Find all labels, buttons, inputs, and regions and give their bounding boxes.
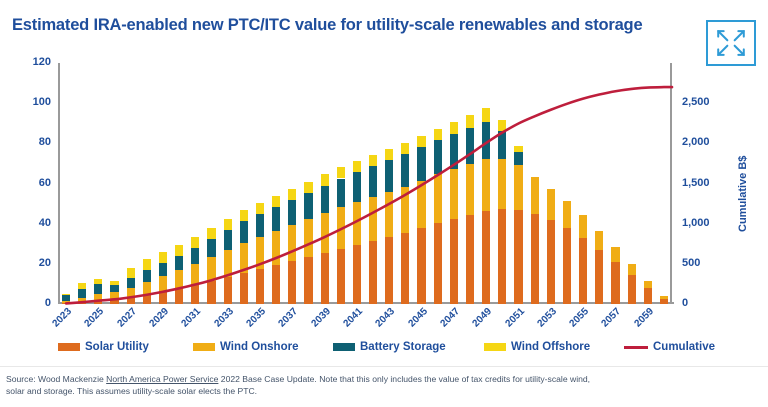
footnote-part1: Source: Wood Mackenzie: [6, 374, 106, 384]
legend-swatch-icon: [58, 343, 80, 351]
y-tick-left-20: 20: [11, 257, 51, 269]
legend-swatch-icon: [193, 343, 215, 351]
cumulative-line-series: [58, 63, 672, 304]
footnote-source-link[interactable]: North America Power Service: [106, 374, 218, 384]
x-tick-2053: 2053: [535, 306, 559, 330]
x-tick-2047: 2047: [438, 306, 462, 330]
y-tick-left-40: 40: [11, 217, 51, 229]
x-axis-ticks: 2023202520272029203120332035203720392041…: [58, 306, 672, 340]
source-footnote: Source: Wood Mackenzie North America Pow…: [6, 373, 606, 398]
x-tick-2023: 2023: [51, 306, 75, 330]
plot-area: [58, 63, 672, 304]
x-tick-2035: 2035: [244, 306, 268, 330]
expand-chart-button[interactable]: [706, 20, 756, 66]
x-tick-2039: 2039: [309, 306, 333, 330]
legend-swatch-icon: [484, 343, 506, 351]
chart-card: Estimated IRA-enabled new PTC/ITC value …: [0, 0, 768, 407]
x-tick-2041: 2041: [341, 306, 365, 330]
x-tick-2029: 2029: [148, 306, 172, 330]
legend-item-battery-storage[interactable]: Battery Storage: [333, 341, 446, 353]
legend-item-wind-onshore[interactable]: Wind Onshore: [193, 341, 298, 353]
y-tick-left-60: 60: [11, 177, 51, 189]
legend-label: Wind Offshore: [511, 341, 590, 353]
x-tick-2055: 2055: [568, 306, 592, 330]
x-tick-2045: 2045: [406, 306, 430, 330]
x-tick-2059: 2059: [632, 306, 656, 330]
y-tick-right-2000: 2,000: [682, 136, 728, 148]
expand-arrows-icon: [708, 22, 754, 64]
y-axis-right-title: Cumulative B$: [737, 156, 749, 232]
y-tick-left-80: 80: [11, 136, 51, 148]
x-tick-2031: 2031: [180, 306, 204, 330]
y-tick-left-100: 100: [11, 96, 51, 108]
y-tick-left-0: 0: [11, 297, 51, 309]
x-tick-2051: 2051: [503, 306, 527, 330]
x-tick-2037: 2037: [277, 306, 301, 330]
y-tick-right-1000: 1,000: [682, 217, 728, 229]
y-tick-right-1500: 1,500: [682, 177, 728, 189]
legend-label: Wind Onshore: [220, 341, 298, 353]
page-title: Estimated IRA-enabled new PTC/ITC value …: [12, 16, 642, 35]
x-tick-2049: 2049: [471, 306, 495, 330]
chart-legend: Solar UtilityWind OnshoreBattery Storage…: [0, 341, 768, 363]
legend-swatch-icon: [333, 343, 355, 351]
legend-item-cumulative[interactable]: Cumulative: [624, 341, 715, 353]
legend-label: Solar Utility: [85, 341, 149, 353]
legend-label: Battery Storage: [360, 341, 446, 353]
x-tick-2027: 2027: [115, 306, 139, 330]
legend-label: Cumulative: [653, 341, 715, 353]
legend-item-solar-utility[interactable]: Solar Utility: [58, 341, 149, 353]
legend-swatch-icon: [624, 346, 648, 349]
footnote-divider: [0, 366, 768, 367]
x-tick-2025: 2025: [83, 306, 107, 330]
x-tick-2033: 2033: [212, 306, 236, 330]
x-tick-2057: 2057: [600, 306, 624, 330]
y-tick-right-500: 500: [682, 257, 728, 269]
y-tick-right-2500: 2,500: [682, 96, 728, 108]
y-tick-left-120: 120: [11, 56, 51, 68]
x-tick-2043: 2043: [374, 306, 398, 330]
legend-item-wind-offshore[interactable]: Wind Offshore: [484, 341, 590, 353]
y-tick-right-0: 0: [682, 297, 728, 309]
